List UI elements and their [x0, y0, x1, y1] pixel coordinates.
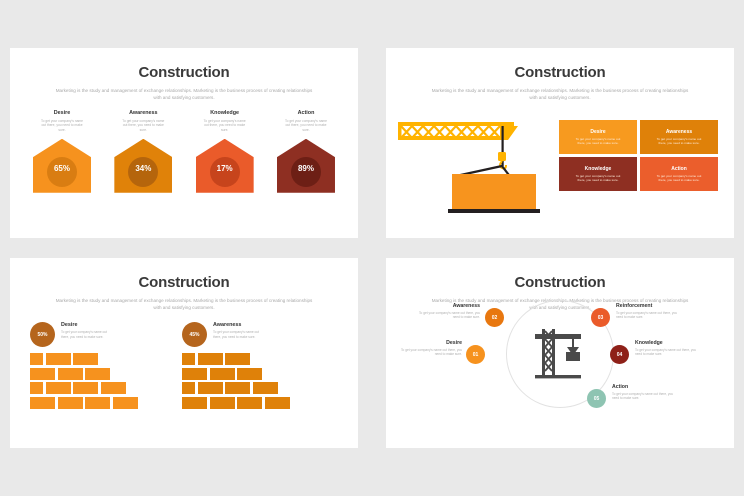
brick	[198, 382, 223, 394]
tower-crane-icon	[396, 106, 546, 216]
page-subtitle: Marketing is the study and management of…	[429, 87, 691, 101]
category-box-action[interactable]: Action To get your company's name out th…	[640, 157, 718, 191]
brick	[225, 353, 250, 365]
tower-crane-icon	[529, 323, 591, 385]
brick	[210, 368, 235, 380]
pentagon-desc: To get your company's name out there, yo…	[283, 119, 329, 133]
slide-pentagons[interactable]: Construction Marketing is the study and …	[10, 48, 358, 238]
node-number: 01	[473, 352, 479, 358]
brick	[237, 368, 262, 380]
slide-board: Construction Marketing is the study and …	[0, 0, 744, 496]
wall-title: Awareness	[213, 322, 259, 328]
pentagon-desc: To get your company's name out there, yo…	[120, 119, 166, 133]
diagram-node-05[interactable]: 05	[587, 389, 606, 408]
brick-row	[182, 353, 290, 365]
node-title: Reinforcement	[616, 303, 680, 309]
brick-row	[182, 397, 290, 409]
diagram-node-03[interactable]: 03	[591, 308, 610, 327]
brick	[182, 397, 207, 409]
brick-row	[30, 353, 138, 365]
pentagon-percent: 65%	[54, 164, 70, 173]
brick	[265, 397, 290, 409]
brick	[46, 353, 71, 365]
pentagon-shape[interactable]: 89%	[277, 139, 335, 193]
brick-row	[182, 382, 290, 394]
box-title: Desire	[590, 129, 605, 135]
category-box-knowledge[interactable]: Knowledge To get your company's name out…	[559, 157, 637, 191]
page-subtitle: Marketing is the study and management of…	[53, 297, 315, 311]
brick-row	[182, 368, 290, 380]
pentagon-shape[interactable]: 17%	[196, 139, 254, 193]
brick-row	[30, 397, 138, 409]
page-subtitle: Marketing is the study and management of…	[53, 87, 315, 101]
pentagon-desc: To get your company's name out there, yo…	[202, 119, 248, 133]
wall-title: Desire	[61, 322, 107, 328]
slide-crane-boxes[interactable]: Construction Marketing is the study and …	[386, 48, 734, 238]
pentagon-item-knowledge[interactable]: Knowledge To get your company's name out…	[191, 110, 259, 193]
pentagon-shape[interactable]: 65%	[33, 139, 91, 193]
diagram-node-text-01: Desire To get your company's name out th…	[398, 340, 462, 357]
node-desc: To get your company's name out there, yo…	[398, 348, 462, 357]
node-title: Knowledge	[635, 340, 699, 346]
pentagon-row: Desire To get your company's name out th…	[28, 110, 340, 193]
wall-group-desire[interactable]: 50% Desire To get your company's name ou…	[30, 322, 138, 411]
wall-desc: To get your company's name out there, yo…	[61, 330, 107, 339]
pentagon-item-action[interactable]: Action To get your company's name out th…	[272, 110, 340, 193]
brick	[85, 368, 110, 380]
brick	[73, 353, 98, 365]
brick	[30, 353, 43, 365]
diagram-node-01[interactable]: 01	[466, 345, 485, 364]
node-number: 05	[594, 396, 600, 402]
node-desc: To get your company's name out there, yo…	[612, 392, 676, 401]
brick	[85, 397, 110, 409]
node-number: 03	[598, 315, 604, 321]
brick	[101, 382, 126, 394]
wall-percent-badge: 50%	[30, 322, 55, 347]
brick-wall	[30, 353, 138, 409]
pentagon-desc: To get your company's name out there, yo…	[39, 119, 85, 133]
box-desc: To get your company's name out there, yo…	[574, 137, 622, 146]
brick	[58, 368, 83, 380]
brick	[113, 397, 138, 409]
slide-circle-diagram[interactable]: Construction Marketing is the study and …	[386, 258, 734, 448]
box-desc: To get your company's name out there, yo…	[655, 137, 703, 146]
wall-group-awareness[interactable]: 45% Awareness To get your company's name…	[182, 322, 290, 411]
pentagon-label: Awareness	[109, 110, 177, 116]
brick	[237, 397, 262, 409]
brick	[58, 397, 83, 409]
category-box-desire[interactable]: Desire To get your company's name out th…	[559, 120, 637, 154]
box-desc: To get your company's name out there, yo…	[574, 174, 622, 183]
wall-header: 50% Desire To get your company's name ou…	[30, 322, 138, 347]
brick	[182, 353, 195, 365]
node-title: Awareness	[416, 303, 480, 309]
box-title: Awareness	[666, 129, 692, 135]
node-desc: To get your company's name out there, yo…	[635, 348, 699, 357]
node-desc: To get your company's name out there, yo…	[616, 311, 680, 320]
pentagon-label: Action	[272, 110, 340, 116]
brick-row	[30, 368, 138, 380]
box-title: Action	[671, 166, 687, 172]
node-desc: To get your company's name out there, yo…	[416, 311, 480, 320]
diagram-node-04[interactable]: 04	[610, 345, 629, 364]
pentagon-shape[interactable]: 34%	[114, 139, 172, 193]
pentagon-percent: 34%	[135, 164, 151, 173]
diagram-node-text-04: Knowledge To get your company's name out…	[635, 340, 699, 357]
wall-header: 45% Awareness To get your company's name…	[182, 322, 290, 347]
brick	[210, 397, 235, 409]
category-box-awareness[interactable]: Awareness To get your company's name out…	[640, 120, 718, 154]
pentagon-item-awareness[interactable]: Awareness To get your company's name out…	[109, 110, 177, 193]
brick	[225, 382, 250, 394]
pentagon-item-desire[interactable]: Desire To get your company's name out th…	[28, 110, 96, 193]
page-title: Construction	[10, 274, 358, 291]
brick	[46, 382, 71, 394]
node-title: Desire	[398, 340, 462, 346]
box-desc: To get your company's name out there, yo…	[655, 174, 703, 183]
brick-row	[30, 382, 138, 394]
pentagon-label: Knowledge	[191, 110, 259, 116]
pentagon-percent: 17%	[217, 164, 233, 173]
brick	[253, 382, 278, 394]
brick	[198, 353, 223, 365]
diagram-node-02[interactable]: 02	[485, 308, 504, 327]
pentagon-label: Desire	[28, 110, 96, 116]
node-title: Action	[612, 384, 676, 390]
pentagon-percent: 89%	[298, 164, 314, 173]
brick	[30, 382, 43, 394]
box-title: Knowledge	[585, 166, 612, 172]
brick	[30, 368, 55, 380]
node-number: 02	[492, 315, 498, 321]
diagram-node-text-05: Action To get your company's name out th…	[612, 384, 676, 401]
slide-brick-walls[interactable]: Construction Marketing is the study and …	[10, 258, 358, 448]
diagram-node-text-02: Awareness To get your company's name out…	[416, 303, 480, 320]
diagram-node-text-03: Reinforcement To get your company's name…	[616, 303, 680, 320]
circle-diagram: 01 Desire To get your company's name out…	[386, 258, 734, 448]
category-box-grid: Desire To get your company's name out th…	[559, 120, 718, 191]
brick	[73, 382, 98, 394]
brick	[30, 397, 55, 409]
wall-desc: To get your company's name out there, yo…	[213, 330, 259, 339]
brick	[182, 382, 195, 394]
brick-wall	[182, 353, 290, 409]
page-title: Construction	[386, 64, 734, 81]
brick	[182, 368, 207, 380]
page-title: Construction	[10, 64, 358, 81]
node-number: 04	[617, 352, 623, 358]
wall-percent-badge: 45%	[182, 322, 207, 347]
